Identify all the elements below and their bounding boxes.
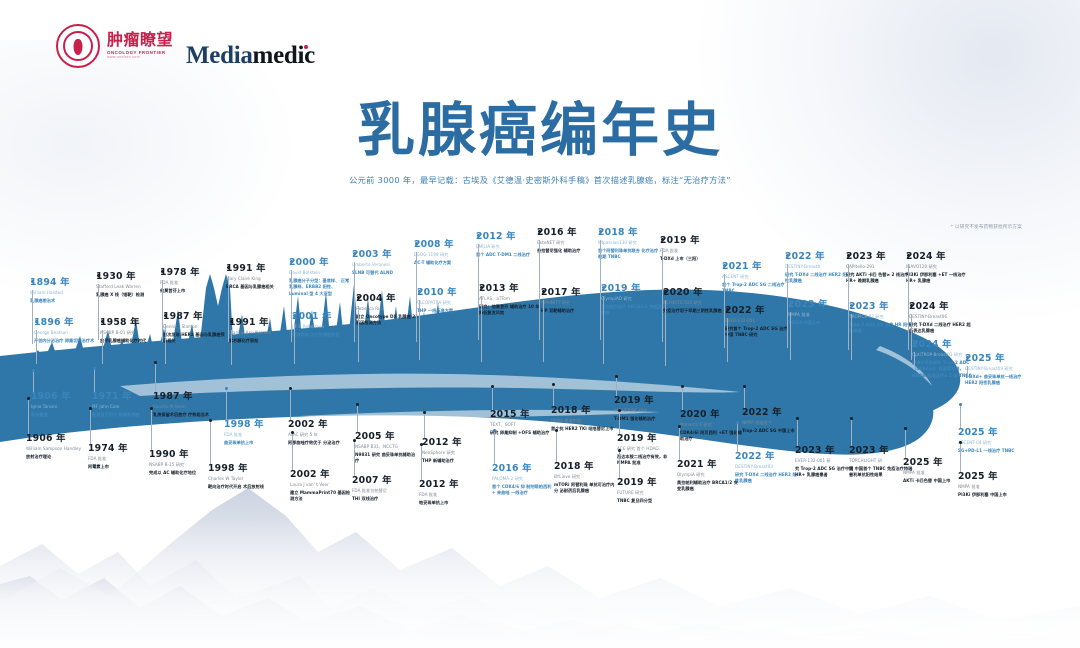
- timeline-source-label: FDA 批准: [660, 248, 724, 254]
- timeline-stem-line: [960, 442, 961, 472]
- timeline-stem-line: [603, 296, 604, 364]
- timeline-stem-line: [90, 408, 91, 444]
- timeline-description: T-DXd 中国上市: [788, 320, 852, 326]
- timeline-marker-dot: [786, 254, 789, 257]
- timeline-year-label: 2012 年: [419, 480, 483, 489]
- timeline-marker-dot: [89, 407, 92, 410]
- timeline-year-label: 2003 年: [352, 250, 416, 259]
- page-subtitle: 公元前 3000 年，最早记载：古埃及《艾德温·史密斯外科手稿》首次描述乳腺癌，…: [0, 174, 1080, 186]
- timeline-item[interactable]: 1991 年Mary Claire KingBRCA 基因与乳腺癌相关: [226, 264, 290, 290]
- timeline-item[interactable]: 2003 年Umberto VeronesiSLNB 可替代 ALND: [352, 250, 416, 276]
- timeline-description: 乳腺癌根治术: [30, 298, 94, 304]
- timeline-description: T-DXd 上市（三阳）: [660, 256, 724, 262]
- timeline-item[interactable]: 2022 年DESTINY-Breast03研究 T-DXd 二线治疗 HER2…: [735, 452, 799, 485]
- timeline-stem-line: [682, 386, 683, 410]
- timeline-item[interactable]: 2004 年Rebecca Risk建立 Oncotype DX 乳腺癌 21 …: [356, 294, 420, 327]
- timeline-marker-dot: [356, 403, 359, 406]
- infographic-canvas: 肿瘤瞭望 ONCOLOGY FRONTIER www.oncfron.com M…: [0, 0, 1080, 648]
- timeline-item[interactable]: 2002 年ATAC 研究 5 年阿那曲唑疗效优于 分泌治疗: [288, 420, 352, 446]
- timeline-item[interactable]: 1930 年Stafford Leak Warren乳腺癌 X 线（钼靶）检测: [96, 272, 160, 298]
- timeline-description: 曲妥珠单抗上市: [224, 440, 288, 446]
- timeline-marker-dot: [161, 270, 164, 273]
- timeline-source-label: FDA 批准: [88, 456, 152, 462]
- timeline-item[interactable]: 2024 年INAVO120 研究PI3Ki 伊那利塞 +ET 一线治疗 HR+…: [906, 252, 970, 285]
- timeline-year-label: 2005 年: [355, 432, 419, 441]
- timeline-marker-dot: [615, 375, 618, 378]
- timeline-year-label: 1990 年: [149, 450, 213, 459]
- timeline-description: 研究 T-DXd 二线治疗 HER2 超低表达乳腺癌: [909, 322, 973, 335]
- timeline-description: T-DXd+ 曲妥珠单抗一线治疗 HER2 阳性乳腺癌: [965, 374, 1029, 387]
- timeline-item[interactable]: 2000 年David Botstein乳腺癌分子分型：基底样、 正常乳腺样、E…: [289, 258, 353, 297]
- timeline-item[interactable]: 2019 年FDA 批准T-DXd 上市（三阳）: [660, 236, 724, 262]
- timeline-year-label: 2025 年: [958, 472, 1022, 481]
- timeline-marker-dot: [477, 234, 480, 237]
- timeline-stem-line: [294, 324, 295, 364]
- timeline-source-label: NSABP B31、NCCTG: [355, 444, 419, 450]
- timeline-stem-line: [619, 410, 620, 434]
- timeline-year-label: 2023 年: [846, 252, 910, 261]
- timeline-marker-dot: [293, 314, 296, 317]
- timeline-item[interactable]: 2001 年J F R Robertson氟维司群 治疗乳腺癌获批: [292, 312, 356, 338]
- timeline-description: THP 新辅助治疗: [422, 458, 486, 464]
- timeline-year-label: 2022 年: [735, 452, 799, 461]
- timeline-marker-dot: [480, 286, 483, 289]
- timeline-source-label: ATLAS、aTTom: [479, 296, 543, 302]
- timeline-description: 奥拉帕利治疗 BRCA1/2 突变乳腺癌: [601, 304, 665, 317]
- timeline-year-label: 2000 年: [289, 258, 353, 267]
- timeline-marker-dot: [225, 387, 228, 390]
- timeline-source-label: William Halsted: [30, 290, 94, 296]
- timeline-year-label: 2024 年: [909, 302, 973, 311]
- timeline-marker-dot: [618, 409, 621, 412]
- timeline-description: 紫杉醇化疗获批: [229, 338, 293, 344]
- timeline-stem-line: [32, 290, 33, 344]
- timeline-marker-dot: [743, 385, 746, 388]
- timeline-description: 乳房重建: [31, 412, 95, 418]
- timeline-item[interactable]: 2021 年OlympiA 研究奥拉帕利辅助治疗 BRCA1/2 突变乳腺癌: [677, 460, 741, 493]
- timeline-item[interactable]: 2023 年NMPA 批准T-DXd 中国上市: [788, 300, 852, 326]
- timeline-description: 研究首个 Trop-2 ADC SG 治疗中国 TNBC 研究: [725, 326, 789, 339]
- timeline-item[interactable]: 2010 年CLEOPATRA 研究THP 一线标准方案: [417, 288, 481, 314]
- timeline-source-label: Rebecca Risk: [356, 306, 420, 312]
- timeline-marker-dot: [904, 427, 907, 430]
- timeline-stem-line: [155, 362, 156, 392]
- timeline-year-label: 2019 年: [660, 236, 724, 245]
- timeline-year-label: 2016 年: [492, 464, 556, 473]
- timeline-item[interactable]: 2020 年KEYNOTE-522 研究免疫治疗用于早期三阴性乳腺癌: [663, 288, 727, 314]
- timeline-source-label: DESTINY-Breast06: [909, 314, 973, 320]
- timeline-stem-line: [151, 408, 152, 450]
- timeline-source-label: KEYNOTE-522 研究: [663, 300, 727, 306]
- timeline-source-label: NSABP B-15 研究: [149, 462, 213, 468]
- timeline-year-label: 1906 年: [26, 434, 90, 443]
- timeline-marker-dot: [97, 274, 100, 277]
- timeline-item[interactable]: 2005 年NSABP B31、NCCTGN9831 研究 曲妥珠单抗辅助治疗: [355, 432, 419, 465]
- timeline-description: 研究 卵巢抑制 +OFS 辅助治疗: [490, 430, 554, 436]
- brand-name-en: ONCOLOGY FRONTIER: [107, 51, 173, 55]
- timeline-source-label: EGOG 1199 研究: [414, 252, 478, 258]
- timeline-description: 开创内分泌治疗 卵巢切除治疗术: [34, 338, 98, 344]
- timeline-year-label: 2018 年: [554, 462, 618, 471]
- timeline-year-label: 2002 年: [290, 470, 354, 479]
- timeline-marker-dot: [357, 296, 360, 299]
- timeline-stem-line: [210, 420, 211, 464]
- timeline-description: SG+PD-L1 一线治疗 TNBC: [958, 448, 1022, 454]
- timeline-item[interactable]: 1896 年George Beatson开创内分泌治疗 卵巢切除治疗术: [34, 318, 98, 344]
- timeline-source-label: Frankie Ann Holmes: [229, 330, 293, 336]
- timeline-year-label: 2023 年: [849, 446, 913, 455]
- timeline-description: 研究 AKTi 卡匹 色替≥ 2 线治疗 HR+ 晚期乳腺癌: [846, 272, 910, 285]
- timeline-stem-line: [292, 432, 293, 470]
- timeline-year-label: 1906 年: [31, 392, 95, 401]
- timeline-description: SLNB 可替代 ALND: [352, 270, 416, 276]
- timeline-marker-dot: [164, 314, 167, 317]
- brand-name-cn: 肿瘤瞭望: [107, 32, 173, 48]
- timeline-marker-dot: [618, 449, 621, 452]
- timeline-marker-dot: [555, 429, 558, 432]
- timeline-stem-line: [744, 386, 745, 408]
- crab-circle-logo-icon: [56, 24, 100, 68]
- timeline-stem-line: [419, 300, 420, 360]
- timeline-item[interactable]: 2012 年FDA 批准帕妥珠单抗上市: [419, 480, 483, 506]
- timeline-description: 建立 Oncotype DX 乳腺癌 21 基因检测方法: [356, 314, 420, 327]
- timeline-item[interactable]: 2012 年EMILIA 研究首个 ADC T-DM1 二线治疗: [476, 232, 540, 258]
- timeline-item[interactable]: 2016 年ExteNET 研究奈拉替尼强化 辅助治疗: [537, 228, 601, 254]
- timeline-stem-line: [790, 312, 791, 360]
- timeline-year-label: 2002 年: [288, 420, 352, 429]
- timeline-item[interactable]: 2008 年EGOG 1199 研究AC-T 辅助化疗方案: [414, 240, 478, 266]
- timeline-stem-line: [492, 386, 493, 410]
- timeline-source-label: ASCENT 研究: [722, 274, 786, 280]
- timeline-description: 研究：他莫昔芬 辅助治疗 10 年 降低复发风险: [479, 304, 543, 317]
- timeline-item[interactable]: 2023 年CAPItello-291研究 AKTi 卡匹 色替≥ 2 线治疗 …: [846, 252, 910, 285]
- timeline-stem-line: [165, 324, 166, 364]
- timeline-description: 放射治疗理论: [26, 454, 90, 460]
- timeline-marker-dot: [678, 425, 681, 428]
- timeline-item[interactable]: 2013 年ATLAS、aTTom研究：他莫昔芬 辅助治疗 10 年 降低复发风…: [479, 284, 543, 317]
- timeline-stem-line: [797, 418, 798, 446]
- timeline-stem-line: [539, 240, 540, 340]
- timeline-marker-dot: [847, 254, 850, 257]
- timeline-source-label: Sandra M Swan: [153, 404, 217, 410]
- timeline-item[interactable]: 2022 年DESTINY-BreastX研究 T-DXd 二线治疗 HER2 …: [785, 252, 849, 285]
- timeline-item[interactable]: 1971 年MF John Cole他莫昔芬用于 晚期乳腺癌: [92, 392, 156, 418]
- timeline-marker-dot: [538, 230, 541, 233]
- timeline-source-label: DESTINY-Breast09 研究: [965, 366, 1029, 372]
- background-mist-overlay: [0, 518, 1080, 648]
- timeline-stem-line: [36, 330, 37, 364]
- timeline-marker-dot: [415, 242, 418, 245]
- timeline-stem-line: [737, 422, 738, 452]
- timeline-year-label: 2024 年: [906, 252, 970, 261]
- timeline-item[interactable]: 2019 年OlympiAD 研究奥拉帕利治疗 BRCA1/2 突变乳腺癌: [601, 284, 665, 317]
- timeline-stem-line: [102, 330, 103, 364]
- timeline-marker-dot: [230, 320, 233, 323]
- timeline-year-label: 2021 年: [677, 460, 741, 469]
- timeline-marker-dot: [542, 290, 545, 293]
- timeline-stem-line: [33, 370, 34, 392]
- timeline-marker-dot: [959, 403, 962, 406]
- timeline-stem-line: [290, 388, 291, 420]
- brand-url: www.oncfron.com: [107, 56, 173, 60]
- timeline-item[interactable]: 1998 年FDA 批准曲妥珠单抗上市: [224, 420, 288, 446]
- timeline-description: 免疫治疗用于早期三阴性乳腺癌: [663, 308, 727, 314]
- timeline-year-label: 2019 年: [617, 434, 681, 443]
- timeline-item[interactable]: 2019 年KATHERINE 研究T-DM1 强化辅助治疗: [614, 396, 678, 422]
- timeline-description: 乳腺癌 X 线（钼靶）检测: [96, 292, 160, 298]
- timeline-source-label: FDA 批准: [224, 432, 288, 438]
- timeline-marker-dot: [491, 385, 494, 388]
- timeline-source-label: BYLieve 研究: [554, 474, 618, 480]
- timeline-year-label: 2010 年: [417, 288, 481, 297]
- timeline-year-label: 1978 年: [160, 268, 224, 277]
- timeline-marker-dot: [552, 383, 555, 386]
- timeline-description: 首个 CDK4/6 抑 制剂哌柏西利 + 来曲唑 一线治疗: [492, 484, 556, 497]
- timeline-marker-dot: [664, 290, 667, 293]
- timeline-source-label: NMPA 批准: [958, 484, 1022, 490]
- title-block: 乳腺癌编年史 公元前 3000 年，最早记载：古埃及《艾德温·史密斯外科手稿》首…: [0, 100, 1080, 186]
- timeline-marker-dot: [353, 252, 356, 255]
- timeline-marker-dot: [101, 320, 104, 323]
- timeline-description: 他莫昔芬用于 晚期乳腺癌: [92, 412, 156, 418]
- timeline-marker-dot: [913, 342, 916, 345]
- timeline-year-label: 2015 年: [490, 410, 554, 419]
- timeline-stem-line: [543, 300, 544, 362]
- timeline-description: CDK4/6i 阿贝西利 +ET 强化辅助治疗: [680, 430, 744, 443]
- timeline-item[interactable]: 1894 年William Halsted乳腺癌根治术: [30, 278, 94, 304]
- timeline-year-label: 2024 年: [912, 340, 976, 349]
- timeline-item[interactable]: 1978 年FDA 批准他莫昔芬上市: [160, 268, 224, 294]
- timeline-marker-dot: [93, 367, 96, 370]
- timeline-description: AC-T 辅助化疗方案: [414, 260, 478, 266]
- timeline-item[interactable]: 1987 年Dennis J Slamon首次发现 HER2 基因与乳腺癌预后相…: [163, 312, 227, 345]
- timeline-source-label: EVER-132-001: [725, 318, 789, 324]
- timeline-marker-dot: [789, 302, 792, 305]
- partner-logo-mediamedic: Mediamedic: [186, 42, 315, 70]
- timeline-description: 研究 T-DXd 二线治疗 HER2 阳性乳腺癌: [785, 272, 849, 285]
- timeline-stem-line: [553, 384, 554, 406]
- timeline-item[interactable]: 1987 年Sandra M Swan乳房保留术后放疗 疗效相当术: [153, 392, 217, 418]
- timeline-year-label: 2021 年: [722, 262, 786, 271]
- timeline-description: 西达本胺二线治疗有效，非 NMPA 批准: [617, 454, 681, 467]
- timeline-description: mTORi 阿替利珠 单抗可治疗内分 泌耐药后乳腺癌: [554, 482, 618, 495]
- timeline-year-label: 2004 年: [356, 294, 420, 303]
- timeline-description: 靶向治疗时代开启 术后放射线: [208, 484, 272, 490]
- timeline-source-label: NSABP B-01 研究: [100, 330, 164, 336]
- timeline-stem-line: [960, 404, 961, 428]
- timeline-item[interactable]: 2007 年FDA 批准拉帕替尼THI 双线治疗: [352, 476, 416, 502]
- timeline-source-label: FDA 批准: [419, 492, 483, 498]
- timeline-item[interactable]: 1906 年William Sampson Handley放射治疗理论: [26, 434, 90, 460]
- timeline-year-label: 2020 年: [680, 410, 744, 419]
- timeline-year-label: 1991 年: [226, 264, 290, 273]
- timeline-item[interactable]: 2019 年FUTURE 研究TNBC 复旦四分型: [617, 478, 681, 504]
- timeline-source-label: Dennis J Slamon: [163, 324, 227, 330]
- timeline-stem-line: [556, 430, 557, 462]
- timeline-source-label: George Beatson: [34, 330, 98, 336]
- timeline-marker-dot: [209, 419, 212, 422]
- timeline-year-label: 2019 年: [601, 284, 665, 293]
- timeline-marker-dot: [35, 320, 38, 323]
- timeline-item[interactable]: 1958 年NSABP B-01 研究放平乳腺癌辅助化疗时代: [100, 318, 164, 344]
- timeline-year-label: 2008 年: [414, 240, 478, 249]
- timeline-stem-line: [851, 314, 852, 360]
- timeline-marker-dot: [966, 356, 969, 359]
- timeline-marker-dot: [353, 439, 356, 442]
- timeline-item[interactable]: 2022 年EVER-132-001研究首个 Trop-2 ADC SG 治疗中…: [725, 306, 789, 339]
- timeline-source-label: FDA 批准拉帕替尼: [352, 488, 416, 494]
- timeline-marker-dot: [418, 290, 421, 293]
- timeline-item[interactable]: 2015 年TEXT、SOFT研究 卵巢抑制 +OFS 辅助治疗: [490, 410, 554, 436]
- timeline-stem-line: [226, 388, 227, 420]
- timeline-year-label: 2019 年: [614, 396, 678, 405]
- timeline-year-label: 2022 年: [742, 408, 806, 417]
- timeline-year-label: 2019 年: [617, 478, 681, 487]
- timeline-year-label: 2017 年: [541, 288, 605, 297]
- timeline-source-label: Monarch E 研究: [680, 422, 744, 428]
- timeline-year-label: 2018 年: [551, 406, 615, 415]
- timeline-year-label: 1987 年: [153, 392, 217, 401]
- timeline-stem-line: [616, 376, 617, 396]
- timeline-stem-line: [679, 426, 680, 460]
- timeline-stem-line: [424, 412, 425, 438]
- timeline-source-label: IMpassion130 研究: [598, 240, 662, 246]
- timeline-source-label: MF John Cole: [92, 404, 156, 410]
- timeline-stem-line: [914, 352, 915, 366]
- timeline-item[interactable]: 2025 年NMPA 批准PI3Ki 伊那利塞 中国上市: [958, 472, 1022, 498]
- timeline-item[interactable]: 2017 年APHINITY 研究HP 双靶辅助治疗: [541, 288, 605, 314]
- timeline-source-label: INAVO120 研究: [906, 264, 970, 270]
- timeline-source-label: FUTURE 研究: [617, 490, 681, 496]
- timeline-item[interactable]: 1974 年FDA 批准阿霉素上市: [88, 444, 152, 470]
- timeline-source-label: ASCENT-04 研究: [958, 440, 1022, 446]
- timeline-year-label: 1896 年: [34, 318, 98, 327]
- timeline-marker-dot: [661, 238, 664, 241]
- timeline-item[interactable]: 2021 年ASCENT 研究首个 Trop-2 ADC SG 二线治疗 TNB…: [722, 262, 786, 295]
- timeline-marker-dot: [227, 266, 230, 269]
- timeline-source-label: DESTINY-BreastX: [785, 264, 849, 270]
- timeline-marker-dot: [27, 397, 30, 400]
- timeline-item[interactable]: 2002 年Laura J van' t Veer建立 MammaPrint70…: [290, 470, 354, 503]
- timeline-year-label: 2020 年: [663, 288, 727, 297]
- timeline-description: TNBC 复旦四分型: [617, 498, 681, 504]
- timeline-item[interactable]: 2018 年NMPA 批准中国首个抗 HER2 TKI 吡咯替尼上市: [551, 406, 615, 432]
- timeline-item[interactable]: 1990 年NSABP B-15 研究完成以 AC 辅助化疗地位: [149, 450, 213, 476]
- timeline-item[interactable]: 2012 年NeoSphere 研究THP 新辅助治疗: [422, 438, 486, 464]
- timeline-year-label: 2016 年: [537, 228, 601, 237]
- timeline-description: N9831 研究 曲妥珠单抗辅助治疗: [355, 452, 419, 465]
- timeline-year-label: 2012 年: [476, 232, 540, 241]
- timeline-description: 首个 Trop-2 ADC SG 二线治疗 TNBC: [722, 282, 786, 295]
- timeline-item[interactable]: 2024 年DESTINY-Breast06研究 T-DXd 二线治疗 HER2…: [909, 302, 973, 335]
- timeline-marker-dot: [599, 230, 602, 233]
- timeline-marker-dot: [291, 431, 294, 434]
- timeline-source-label: CAPItello-291: [846, 264, 910, 270]
- timeline-item[interactable]: 1998 年Charles W Taylor靶向治疗时代开启 术后放射线: [208, 464, 272, 490]
- timeline-source-label: APHINITY 研究: [541, 300, 605, 306]
- timeline-year-label: 1971 年: [92, 392, 156, 401]
- partner-logo-accent-dot: [304, 45, 308, 49]
- timeline-source-label: Mary Claire King: [226, 276, 290, 282]
- timeline-item[interactable]: 2018 年BYLieve 研究mTORi 阿替利珠 单抗可治疗内分 泌耐药后乳…: [554, 462, 618, 495]
- timeline-year-label: 1974 年: [88, 444, 152, 453]
- timeline-item[interactable]: 2025 年ASCENT-04 研究SG+PD-L1 一线治疗 TNBC: [958, 428, 1022, 454]
- timeline-stem-line: [354, 262, 355, 342]
- timeline-source-label: KATHERINE 研究: [614, 408, 678, 414]
- timeline-marker-dot: [910, 304, 913, 307]
- timeline-description: 放平乳腺癌辅助化疗时代: [100, 338, 164, 344]
- timeline-description: HP 双靶辅助治疗: [541, 308, 605, 314]
- timeline-description: PI3Ki 伊那利塞 中国上市: [958, 492, 1022, 498]
- timeline-source-label: NMPA 批准: [788, 312, 852, 318]
- timeline-stem-line: [851, 418, 852, 446]
- timeline-description: BRCA 基因与乳腺癌相关: [226, 284, 290, 290]
- timeline-description: 他莫昔芬上市: [160, 288, 224, 294]
- timeline-year-label: 2023 年: [788, 300, 852, 309]
- timeline-source-label: ExteNET 研究: [537, 240, 601, 246]
- timeline-stem-line: [357, 404, 358, 432]
- timeline-source-label: ATAC 研究 5 年: [288, 432, 352, 438]
- timeline-item[interactable]: 2019 年ACE 研究 首个 HDACi西达本胺二线治疗有效，非 NMPA 批…: [617, 434, 681, 467]
- timeline-marker-dot: [150, 407, 153, 410]
- timeline-description: 研究 T-DXd 二线治疗 HER2 阳性乳腺癌: [735, 472, 799, 485]
- timeline-item[interactable]: 2020 年Monarch E 研究CDK4/6i 阿贝西利 +ET 强化辅助治…: [680, 410, 744, 443]
- timeline-description: 乳房保留术后放疗 疗效相当术: [153, 412, 217, 418]
- timeline-stem-line: [28, 398, 29, 434]
- timeline-marker-dot: [726, 308, 729, 311]
- timeline-year-label: 1894 年: [30, 278, 94, 287]
- timeline-item[interactable]: 2023 年TROPiCS-02 研究Trop-2 ADC SG 治疗 HR 阳…: [849, 302, 913, 335]
- timeline-description: THI 双线治疗: [352, 496, 416, 502]
- timeline-marker-dot: [289, 387, 292, 390]
- timeline-year-label: 2022 年: [785, 252, 849, 261]
- timeline-marker-dot: [723, 264, 726, 267]
- timeline-stem-line: [494, 430, 495, 464]
- timeline-stem-line: [727, 318, 728, 362]
- timeline-description: 首个 ADC T-DM1 二线治疗: [476, 252, 540, 258]
- timeline-stem-line: [619, 450, 620, 478]
- partner-logo-part-a: Media: [186, 42, 253, 69]
- timeline-marker-dot: [32, 369, 35, 372]
- timeline-source-label: TEXT、SOFT: [490, 422, 554, 428]
- timeline-item[interactable]: 2018 年IMpassion130 研究首个阿替利珠单抗联合 化疗治疗晚期 T…: [598, 228, 662, 261]
- timeline-description: PI3Ki 伊那利塞 +ET 一线治疗 HR+ 乳腺癌: [906, 272, 970, 285]
- timeline-item[interactable]: 2016 年PALOMA-2 研究首个 CDK4/6 抑 制剂哌柏西利 + 来曲…: [492, 464, 556, 497]
- timeline-description: Trop-2 ADC SG 治疗 HR 阳性乳腺癌: [849, 322, 913, 335]
- timeline-description: THP 一线标准方案: [417, 308, 481, 314]
- timeline-source-label: William Sampson Handley: [26, 446, 90, 452]
- timeline-year-label: 1930 年: [96, 272, 160, 281]
- timeline-source-label: Laura J van' t Veer: [290, 482, 354, 488]
- timeline-marker-dot: [602, 286, 605, 289]
- timeline-description: 乳腺癌分子分型：基底样、 正常乳腺样、ERBB2 阳性、 Luminal 型 4…: [289, 278, 353, 297]
- timeline-item[interactable]: 2025 年DESTINY-Breast09 研究T-DXd+ 曲妥珠单抗一线治…: [965, 354, 1029, 387]
- timeline-year-label: 2025 年: [965, 354, 1029, 363]
- timeline-description: 帕妥珠单抗上市: [419, 500, 483, 506]
- timeline-marker-dot: [493, 429, 496, 432]
- timeline-source-label: EMILIA 研究: [476, 244, 540, 250]
- timeline-marker-dot: [850, 417, 853, 420]
- timeline-marker-dot: [796, 417, 799, 420]
- timeline-source-label: OlympiAD 研究: [601, 296, 665, 302]
- timeline-year-label: 2007 年: [352, 476, 416, 485]
- timeline-item[interactable]: 1906 年Ignio Tansini乳房重建: [31, 392, 95, 418]
- timeline-source-label: J F R Robertson: [292, 324, 356, 330]
- timeline-description: 首个阿替利珠单抗联合 化疗治疗晚期 TNBC: [598, 248, 662, 261]
- timeline-stem-line: [94, 368, 95, 392]
- timeline-item[interactable]: 1991 年Frankie Ann Holmes紫杉醇化疗获批: [229, 318, 293, 344]
- timeline-year-label: 2025 年: [903, 458, 967, 467]
